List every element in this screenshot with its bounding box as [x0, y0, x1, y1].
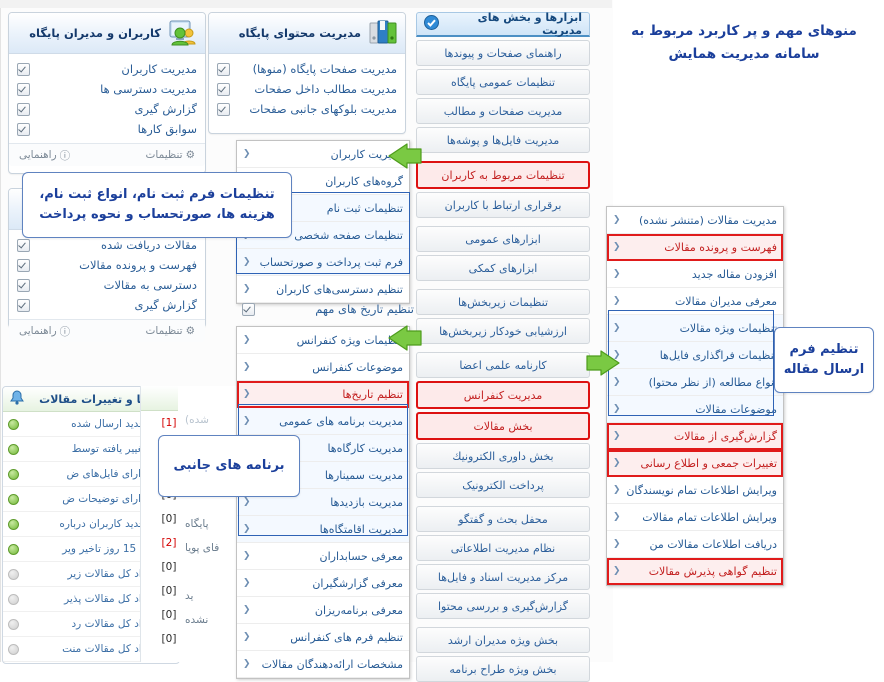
admin-menu-item-label: گزارش‌گیری و بررسی محتوا	[438, 600, 568, 613]
panel-articles-help-label: راهنمایی	[19, 325, 57, 337]
submenu-item-label: موضوعات مقالات	[627, 403, 777, 416]
admin-tools-menu-header: ابزارها و بخش های مدیریت	[416, 12, 590, 37]
admin-menu-item[interactable]: تنظیمات زیربخش‌ها	[416, 289, 590, 315]
admin-menu-item-label: مدیریت صفحات و مطالب	[444, 105, 563, 118]
submenu-item-label: تنظیم تاریخ‌ها	[257, 388, 403, 401]
admin-menu-item[interactable]: راهنمای صفحات و پیوندها	[416, 40, 590, 66]
panel-content-item[interactable]: مدیریت صفحات پایگاه (منوها)	[209, 59, 405, 79]
admin-menu-item[interactable]: ابزارهای عمومی	[416, 226, 590, 252]
callout-article-form: تنظیم فرمارسال مقاله	[774, 327, 874, 393]
admin-menu-item[interactable]: کارنامه علمی اعضا	[416, 352, 590, 378]
chevron-right-icon: ❯	[613, 296, 621, 306]
checkbox-icon[interactable]	[17, 299, 30, 312]
submenu-item-label: معرفی برنامه‌ریزان	[257, 604, 403, 617]
status-bullet-icon	[8, 594, 19, 605]
background-fragment: فای پویا	[185, 542, 219, 554]
admin-menu-item[interactable]: ارزشیابی خودکار زیربخش‌ها	[416, 318, 590, 344]
page-title: منوهای مهم و پر کاربرد مربوط به سامانه م…	[608, 20, 880, 66]
checkbox-icon[interactable]	[17, 123, 30, 136]
submenu-item-label: دریافت اطلاعات مقالات من	[627, 538, 777, 551]
admin-menu-item[interactable]: برقراری ارتباط با کاربران	[416, 192, 590, 218]
submenu-item-label: تغییرات جمعی و اطلاع رسانی	[627, 457, 777, 470]
submenu-item-label: فرم ثبت پرداخت و صورتحساب	[257, 256, 403, 269]
submenu-item-label: تنظیمات ویژه کنفرانس	[257, 334, 403, 347]
chevron-right-icon: ❯	[613, 566, 621, 576]
submenu-item[interactable]: تغییرات جمعی و اطلاع رسانی❯	[607, 450, 783, 477]
submenu-item[interactable]: معرفی حسابداران❯	[237, 543, 409, 570]
checkbox-icon[interactable]	[17, 279, 30, 292]
admin-menu-item[interactable]: بخش ویژه طراح برنامه	[416, 656, 590, 682]
admin-menu-item-label: مدیریت فایل‌ها و پوشه‌ها	[447, 134, 560, 147]
checkbox-icon[interactable]	[17, 83, 30, 96]
submenu-item[interactable]: فرم ثبت پرداخت و صورتحساب❯	[237, 249, 409, 276]
admin-menu-item-label: نظام مدیریت اطلاعاتی	[451, 542, 555, 555]
submenu-item[interactable]: انواع مطالعه (از نظر محتوا)❯	[607, 369, 783, 396]
background-fragment: نشده	[185, 614, 208, 626]
admin-menu-item-label: بخش ویژه طراح برنامه	[449, 663, 556, 676]
panel-articles-settings-label: تنظیمات	[146, 325, 183, 337]
admin-menu-item[interactable]: تنظیمات عمومی پایگاه	[416, 69, 590, 95]
chevron-right-icon: ❯	[613, 458, 621, 468]
submenu-item-label: فهرست و پرونده مقالات	[627, 241, 777, 254]
conference-submenu-items: تنظیمات ویژه کنفرانس❯موضوعات کنفرانس❯تنظ…	[237, 327, 409, 678]
panel-content-header: مدیریت محتوای پایگاه	[209, 13, 405, 54]
folders-icon	[369, 20, 397, 46]
admin-menu-item[interactable]: مدیریت صفحات و مطالب	[416, 98, 590, 124]
conference-dates-checkbox-label: تنظیم تاریخ های مهم	[260, 302, 414, 316]
green-arrow-left-users	[386, 143, 422, 172]
chevron-right-icon: ❯	[243, 362, 251, 372]
panel-articles-body: مقالات دریافت شده فهرست و پرونده مقالات …	[9, 230, 205, 315]
articles-submenu-items: مدیریت مقالات (متنشر نشده)❯فهرست و پروند…	[607, 207, 783, 585]
chevron-right-icon: ❯	[613, 242, 621, 252]
background-fragment: ید	[185, 590, 193, 602]
chevron-right-icon: ❯	[243, 149, 251, 159]
panel-content-body: مدیریت صفحات پایگاه (منوها) مدیریت مطالب…	[209, 54, 405, 119]
admin-menu-item[interactable]: پرداخت الکترونیک	[416, 472, 590, 498]
submenu-item[interactable]: مدیریت مقالات (متنشر نشده)❯	[607, 207, 783, 234]
panel-content-management: مدیریت محتوای پایگاه مدیریت صفحات پایگاه…	[208, 12, 406, 134]
panel-users-item-label: مدیریت دسترسی ها	[35, 82, 197, 96]
admin-menu-item[interactable]: مدیریت کنفرانس	[416, 381, 590, 409]
chevron-right-icon: ❯	[243, 284, 251, 294]
chevron-right-icon: ❯	[243, 335, 251, 345]
submenu-item[interactable]: معرفی مدیران مقالات❯	[607, 288, 783, 315]
background-fragment: پایگاه	[185, 518, 209, 530]
status-bullet-icon	[8, 569, 19, 580]
panel-articles-item[interactable]: فهرست و پرونده مقالات	[9, 255, 205, 275]
green-arrow-left-conference	[386, 325, 422, 354]
submenu-item[interactable]: تنظیم گواهی پذیرش مقالات❯	[607, 558, 783, 585]
panel-content-item-label: مدیریت صفحات پایگاه (منوها)	[235, 62, 397, 76]
chevron-right-icon: ❯	[613, 512, 621, 522]
panel-content-item-label: مدیریت بلوکهای جانبی صفحات	[235, 102, 397, 116]
admin-menu-item[interactable]: نظام مدیریت اطلاعاتی	[416, 535, 590, 561]
admin-tools-menu-title: ابزارها و بخش های مدیریت	[444, 11, 582, 37]
panel-articles-item-label: فهرست و پرونده مقالات	[35, 258, 197, 272]
submenu-item[interactable]: تنظیم فرم های کنفرانس❯	[237, 624, 409, 651]
submenu-item[interactable]: معرفی برنامه‌ریزان❯	[237, 597, 409, 624]
submenu-item[interactable]: ویرایش اطلاعات تمام مقالات❯	[607, 504, 783, 531]
chevron-right-icon: ❯	[613, 323, 621, 333]
chevron-right-icon: ❯	[243, 389, 251, 399]
panel-users-item[interactable]: مدیریت کاربران	[9, 59, 205, 79]
submenu-item[interactable]: ویرایش اطلاعات تمام نویسندگان❯	[607, 477, 783, 504]
checkbox-icon[interactable]	[17, 239, 30, 252]
checkbox-icon[interactable]	[217, 63, 230, 76]
admin-menu-item[interactable]: بخش داوری الکترونیك	[416, 443, 590, 469]
gear-icon: ⚙	[186, 325, 195, 337]
panel-articles-help-link[interactable]: ⓘ راهنمایی	[19, 324, 70, 339]
status-bullet-icon	[8, 619, 19, 630]
gear-icon: ⚙	[186, 149, 195, 161]
panel-articles-item-label: مقالات دریافت شده	[35, 238, 197, 252]
admin-menu-item-label: محفل بحث و گفتگو	[458, 513, 548, 526]
panel-articles-item[interactable]: دسترسی به مقالات	[9, 275, 205, 295]
submenu-item-label: ویرایش اطلاعات تمام مقالات	[627, 511, 777, 524]
submenu-item-label: تنظیم فرم های کنفرانس	[257, 631, 403, 644]
admin-menu-item-label: بخش ویژه مدیران ارشد	[448, 634, 558, 647]
submenu-item-label: موضوعات کنفرانس	[257, 361, 403, 374]
submenu-item-label: افزودن مقاله جدید	[627, 268, 777, 281]
submenu-item[interactable]: دریافت اطلاعات مقالات من❯	[607, 531, 783, 558]
admin-menu-item-label: بخش مقالات	[473, 420, 532, 433]
panel-users-help-link[interactable]: ⓘ راهنمایی	[19, 148, 70, 163]
green-arrow-right-articles	[586, 350, 622, 379]
admin-menu-item-label: پرداخت الکترونیک	[462, 479, 544, 492]
panel-articles-settings-link[interactable]: ⚙ تنظیمات	[146, 325, 195, 337]
panel-articles-item-label: گزارش گیری	[35, 298, 197, 312]
submenu-item[interactable]: مدیریت اقامتگاه‌ها❯	[237, 516, 409, 543]
submenu-item-label: مدیریت برنامه های عمومی	[257, 415, 403, 428]
submenu-item[interactable]: تنظیمات فراگذاری فایل‌ها❯	[607, 342, 783, 369]
submenu-item[interactable]: گزارش‌گیری از مقالات❯	[607, 423, 783, 450]
admin-menu-item-label: مرکز مدیریت اسناد و فایل‌ها	[438, 571, 568, 584]
submenu-item-label: مشخصات ارائه‌دهندگان مقالات	[257, 658, 403, 671]
chevron-right-icon: ❯	[243, 257, 251, 267]
checkbox-icon[interactable]	[17, 63, 30, 76]
submenu-item-label: معرفی حسابداران	[257, 550, 403, 563]
checkbox-icon[interactable]	[217, 103, 230, 116]
submenu-item-label: مدیریت اقامتگاه‌ها	[257, 523, 403, 536]
status-bullet-icon	[8, 544, 19, 555]
panel-articles-item[interactable]: گزارش گیری	[9, 295, 205, 315]
submenu-item-label: مدیریت کاربران	[257, 148, 403, 161]
submenu-item[interactable]: تنظیمات ویژه کنفرانس❯	[237, 327, 409, 354]
panel-users-footer: ⚙ تنظیمات ⓘ راهنمایی	[9, 143, 205, 166]
question-icon: ⓘ	[60, 324, 71, 339]
chevron-right-icon: ❯	[613, 215, 621, 225]
admin-menu-item-label: ابزارهای کمکی	[469, 262, 538, 275]
submenu-item-label: تنظیم دسترسی‌های کاربران	[257, 283, 403, 296]
page-background-strip	[0, 0, 612, 8]
chevron-right-icon: ❯	[243, 524, 251, 534]
admin-menu-item-label: تنظیمات عمومی پایگاه	[451, 76, 555, 89]
chevron-right-icon: ❯	[613, 431, 621, 441]
background-fragment: شده)	[185, 414, 209, 426]
callout-side-programs-text: برنامه های جانبی	[173, 456, 284, 476]
chevron-right-icon: ❯	[243, 578, 251, 588]
page-title-line1: منوهای مهم و پر کاربرد مربوط به	[608, 20, 880, 43]
submenu-item[interactable]: تنظیم دسترسی‌های کاربران❯	[237, 276, 409, 303]
checkbox-icon[interactable]	[217, 83, 230, 96]
chevron-right-icon: ❯	[613, 539, 621, 549]
submenu-item-label: مدیریت مقالات (متنشر نشده)	[627, 214, 777, 227]
admin-menu-item[interactable]: مدیریت فایل‌ها و پوشه‌ها	[416, 127, 590, 153]
chevron-right-icon: ❯	[243, 659, 251, 669]
panel-content-item-label: مدیریت مطالب داخل صفحات	[235, 82, 397, 96]
panel-users-body: مدیریت کاربران مدیریت دسترسی ها گزارش گی…	[9, 54, 205, 139]
submenu-item[interactable]: موضوعات کنفرانس❯	[237, 354, 409, 381]
admin-menu-item[interactable]: گزارش‌گیری و بررسی محتوا	[416, 593, 590, 619]
submenu-item[interactable]: افزودن مقاله جدید❯	[607, 261, 783, 288]
chevron-right-icon: ❯	[243, 632, 251, 642]
articles-submenu: مدیریت مقالات (متنشر نشده)❯فهرست و پروند…	[606, 206, 784, 586]
panel-users-item[interactable]: سوابق کارها	[9, 119, 205, 139]
callout-registration-text: تنظیمات فرم ثبت نام، انواع ثبت نام،هزینه…	[39, 185, 275, 225]
admin-menu-item-label: ابزارهای عمومی	[465, 233, 540, 246]
screenshot-canvas: منوهای مهم و پر کاربرد مربوط به سامانه م…	[0, 0, 884, 662]
submenu-item-label: معرفی گزارشگیران	[257, 577, 403, 590]
status-bullet-icon	[8, 419, 19, 430]
admin-menu-item-label: راهنمای صفحات و پیوندها	[444, 47, 561, 60]
status-bullet-icon	[8, 469, 19, 480]
admin-menu-item-label: تنظیمات زیربخش‌ها	[458, 296, 548, 309]
chevron-right-icon: ❯	[243, 497, 251, 507]
conference-dates-checkbox-row[interactable]: تنظیم تاریخ های مهم	[236, 302, 420, 316]
panel-content-item[interactable]: مدیریت بلوکهای جانبی صفحات	[209, 99, 405, 119]
admin-tools-menu-items: راهنمای صفحات و پیوندهاتنظیمات عمومی پای…	[416, 40, 590, 682]
panel-users-settings-link[interactable]: ⚙ تنظیمات	[146, 149, 195, 161]
submenu-item[interactable]: مشخصات ارائه‌دهندگان مقالات❯	[237, 651, 409, 678]
chevron-right-icon: ❯	[243, 551, 251, 561]
admin-menu-item[interactable]: بخش مقالات	[416, 412, 590, 440]
checkbox-icon[interactable]	[242, 303, 255, 316]
admin-menu-item[interactable]: تنظیمات مربوط به کاربران	[416, 161, 590, 189]
panel-users-settings-label: تنظیمات	[146, 149, 183, 161]
submenu-item-label: مدیریت بازدیدها	[257, 496, 403, 509]
admin-menu-item-label: ارزشیابی خودکار زیربخش‌ها	[439, 325, 567, 338]
submenu-item-label: معرفی مدیران مقالات	[627, 295, 777, 308]
panel-content-item[interactable]: مدیریت مطالب داخل صفحات	[209, 79, 405, 99]
submenu-item[interactable]: فهرست و پرونده مقالات❯	[607, 234, 783, 261]
admin-menu-item[interactable]: بخش ویژه مدیران ارشد	[416, 627, 590, 653]
callout-side-programs: برنامه های جانبی	[158, 435, 300, 497]
callout-article-form-text: تنظیم فرمارسال مقاله	[784, 340, 864, 380]
submenu-item-label: ویرایش اطلاعات تمام نویسندگان	[626, 484, 777, 497]
admin-tools-menu: ابزارها و بخش های مدیریت راهنمای صفحات و…	[416, 12, 590, 682]
panel-users-help-label: راهنمایی	[19, 149, 57, 161]
users-monitor-icon	[169, 20, 197, 46]
chevron-right-icon: ❯	[613, 404, 621, 414]
conference-submenu: تنظیمات ویژه کنفرانس❯موضوعات کنفرانس❯تنظ…	[236, 326, 410, 679]
admin-menu-item-label: بخش داوری الکترونیك	[452, 450, 553, 463]
panel-users-item-label: مدیریت کاربران	[35, 62, 197, 76]
question-icon: ⓘ	[60, 148, 71, 163]
panel-articles-footer: ⚙ تنظیمات ⓘ راهنمایی	[9, 319, 205, 342]
submenu-item-label: انواع مطالعه (از نظر محتوا)	[627, 376, 777, 389]
status-bullet-icon	[8, 644, 19, 655]
submenu-item-label: گزارش‌گیری از مقالات	[627, 430, 777, 443]
admin-menu-item[interactable]: ابزارهای کمکی	[416, 255, 590, 281]
chevron-right-icon: ❯	[243, 605, 251, 615]
chevron-right-icon: ❯	[613, 269, 621, 279]
status-bullet-icon	[8, 444, 19, 455]
status-bullet-icon	[8, 519, 19, 530]
submenu-item-label: تنظیمات فراگذاری فایل‌ها	[627, 349, 777, 362]
checkbox-icon[interactable]	[17, 259, 30, 272]
submenu-item[interactable]: تنظیم تاریخ‌ها❯	[237, 381, 409, 408]
panel-articles-item[interactable]: مقالات دریافت شده	[9, 235, 205, 255]
page-title-line2: سامانه مدیریت همایش	[608, 43, 880, 66]
admin-menu-item-label: برقراری ارتباط با کاربران	[445, 199, 562, 212]
submenu-item[interactable]: تنظیمات ویژه مقالات❯	[607, 315, 783, 342]
checkbox-icon[interactable]	[17, 103, 30, 116]
admin-menu-item[interactable]: مرکز مدیریت اسناد و فایل‌ها	[416, 564, 590, 590]
submenu-item[interactable]: مدیریت برنامه های عمومی❯	[237, 408, 409, 435]
panel-users-title: کاربران و مدیران پایگاه	[17, 26, 163, 40]
bell-icon	[9, 390, 25, 408]
chevron-right-icon: ❯	[613, 485, 621, 495]
panel-users-and-managers: کاربران و مدیران پایگاه مدیریت کاربران م…	[8, 12, 206, 174]
admin-menu-item[interactable]: محفل بحث و گفتگو	[416, 506, 590, 532]
check-circle-icon	[424, 15, 439, 33]
submenu-item[interactable]: موضوعات مقالات❯	[607, 396, 783, 423]
admin-menu-item-label: کارنامه علمی اعضا	[459, 359, 546, 372]
admin-menu-item-label: تنظیمات مربوط به کاربران	[441, 169, 564, 182]
submenu-item-label: تنظیم گواهی پذیرش مقالات	[627, 565, 777, 578]
status-bullet-icon	[8, 494, 19, 505]
admin-menu-item-label: مدیریت کنفرانس	[464, 389, 543, 402]
panel-users-item-label: سوابق کارها	[35, 122, 197, 136]
panel-users-header: کاربران و مدیران پایگاه	[9, 13, 205, 54]
submenu-item[interactable]: معرفی گزارشگیران❯	[237, 570, 409, 597]
callout-registration-settings: تنظیمات فرم ثبت نام، انواع ثبت نام،هزینه…	[22, 172, 292, 238]
submenu-item-label: تنظیمات ویژه مقالات	[627, 322, 777, 335]
chevron-right-icon: ❯	[243, 416, 251, 426]
panel-users-item[interactable]: گزارش گیری	[9, 99, 205, 119]
panel-users-item[interactable]: مدیریت دسترسی ها	[9, 79, 205, 99]
panel-content-title: مدیریت محتوای پایگاه	[217, 26, 363, 40]
panel-users-item-label: گزارش گیری	[35, 102, 197, 116]
submenu-item[interactable]: مدیریت کاربران❯	[237, 141, 409, 168]
panel-articles-item-label: دسترسی به مقالات	[35, 278, 197, 292]
